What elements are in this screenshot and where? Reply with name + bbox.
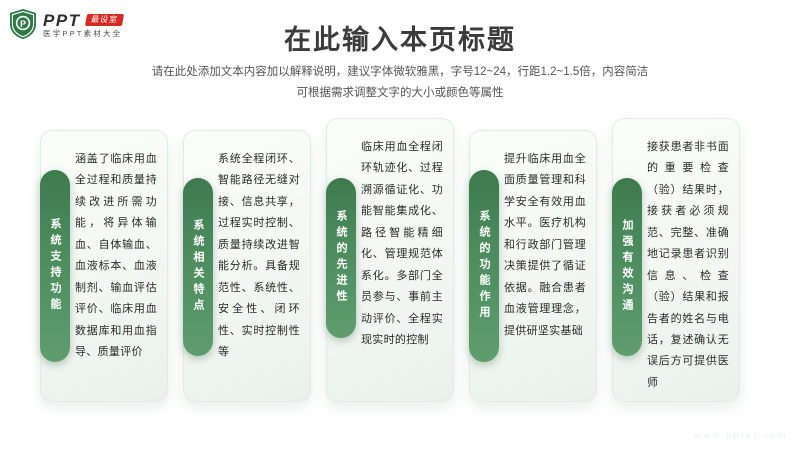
card-2-label-pill[interactable]: 系统相关特点: [183, 178, 213, 356]
card-1-label-pill[interactable]: 系统支持功能: [40, 170, 70, 362]
card-3-label-pill[interactable]: 系统的先进性: [326, 178, 356, 338]
card-4-label-pill[interactable]: 系统的功能作用: [469, 170, 499, 362]
subtitle-line-1: 请在此处添加文本内容加以解释说明，建议字体微软雅黑，字号12~24，行距1.2~…: [0, 62, 800, 83]
page-title: 在此输入本页标题: [0, 18, 800, 57]
subtitle-line-2: 可根据需求调整文字的大小或颜色等属性: [0, 83, 800, 104]
card-row: 涵盖了临床用血全过程和质量持续改进所需功能，将异体输血、自体输血、血液标本、血液…: [0, 110, 800, 410]
watermark: www.ppter.com: [694, 430, 788, 440]
page-subtitle: 请在此处添加文本内容加以解释说明，建议字体微软雅黑，字号12~24，行距1.2~…: [0, 62, 800, 105]
card-5-label-pill[interactable]: 加强有效沟通: [612, 178, 642, 356]
